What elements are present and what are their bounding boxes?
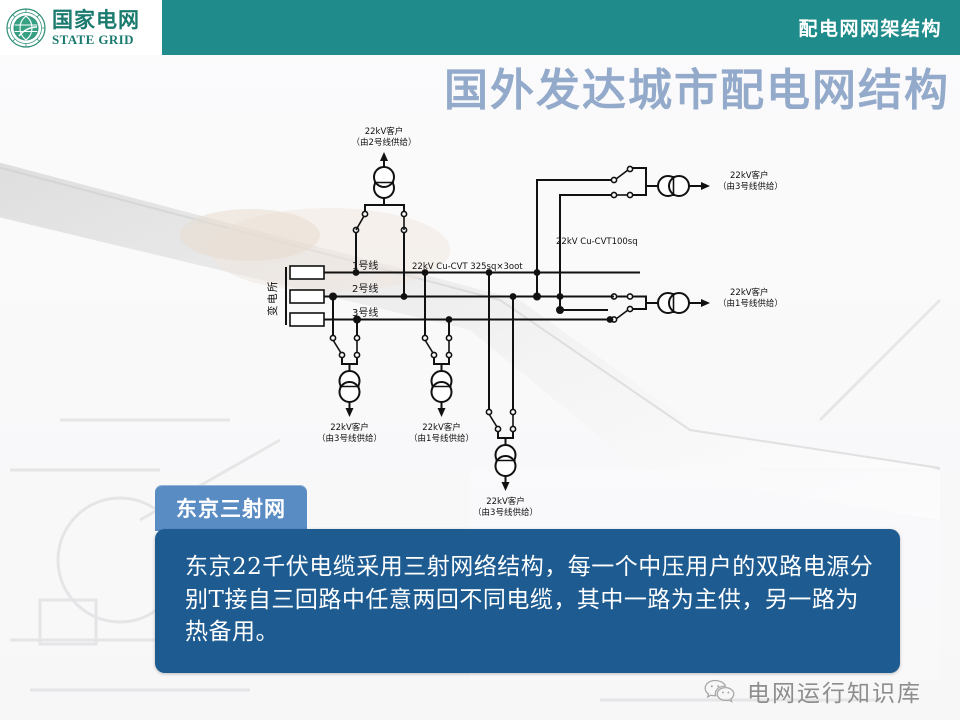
customer-branch-top bbox=[353, 152, 408, 300]
customer-top-label-a: 22kV客户 bbox=[365, 126, 404, 137]
customer-branch-bottom-mid bbox=[422, 269, 453, 417]
transformer-symbol bbox=[669, 293, 689, 313]
customer-bottom-left-label-b: （由3号线供给） bbox=[317, 433, 382, 444]
substation-label: 变电所 bbox=[266, 280, 279, 316]
state-grid-globe-emblem bbox=[6, 8, 46, 48]
customer-right-lower-label-b: （由1号线供给） bbox=[718, 298, 783, 309]
breaker-line1 bbox=[290, 266, 324, 279]
load-arrow bbox=[701, 299, 710, 307]
distribution-network-diagram: 变电所 1号线 2号线 3号线 22kV Cu-CVT 325sq×3oot 2… bbox=[0, 120, 960, 520]
customer-branch-bottom-right bbox=[486, 269, 517, 491]
transformer-symbol bbox=[432, 382, 452, 402]
customer-bottom-left-label-a: 22kV客户 bbox=[330, 422, 369, 433]
tap-node bbox=[556, 306, 564, 314]
load-arrow bbox=[438, 408, 446, 417]
callout-tab-label: 东京三射网 bbox=[155, 485, 307, 531]
brand-logo-text: 国家电网 STATE GRID bbox=[52, 10, 140, 46]
tap-node bbox=[510, 293, 517, 300]
brand-logo: 国家电网 STATE GRID bbox=[0, 0, 162, 55]
tap-node bbox=[422, 269, 429, 276]
transformer-symbol bbox=[374, 167, 394, 187]
customer-branch-right-upper bbox=[534, 166, 710, 300]
transformer-symbol bbox=[340, 382, 360, 402]
cable-annotation-tap: 22kV Cu-CVT100sq bbox=[556, 237, 638, 247]
customer-bottom-mid-label-a: 22kV客户 bbox=[422, 422, 461, 433]
tap-node bbox=[353, 269, 360, 276]
header-section-title: 配电网网架结构 bbox=[798, 14, 942, 41]
callout-body-text: 东京22千伏电缆采用三射网络结构，每一个中压用户的双路电源分别T接自三回路中任意… bbox=[155, 529, 900, 673]
load-arrow bbox=[346, 408, 354, 417]
feeder-label-2: 2号线 bbox=[352, 282, 378, 295]
tap-node bbox=[607, 316, 614, 323]
transformer-symbol bbox=[496, 456, 516, 476]
customer-right-upper-label-b: （由3号线供给） bbox=[718, 181, 783, 192]
breaker-line2 bbox=[290, 290, 324, 303]
tap-node bbox=[446, 316, 453, 323]
customer-right-upper-label-a: 22kV客户 bbox=[730, 170, 769, 181]
breaker-line3 bbox=[290, 313, 324, 326]
customer-top-label-b: （由2号线供给） bbox=[352, 137, 417, 148]
tap-node bbox=[401, 293, 408, 300]
tap-node bbox=[353, 316, 361, 324]
page-title: 国外发达城市配电网结构 bbox=[444, 54, 950, 118]
page-footer: 电网运行知识库 bbox=[0, 662, 960, 720]
header-bar: 配电网网架结构 bbox=[162, 0, 960, 55]
transformer-symbol bbox=[669, 176, 689, 196]
cable-annotation-main: 22kV Cu-CVT 325sq×3oot bbox=[412, 262, 523, 272]
callout-panel: 东京三射网 东京22千伏电缆采用三射网络结构，每一个中压用户的双路电源分别T接自… bbox=[155, 485, 900, 673]
brand-name-en: STATE GRID bbox=[52, 33, 140, 46]
page-header: 国家电网 STATE GRID 配电网网架结构 bbox=[0, 0, 960, 55]
customer-right-lower-label-a: 22kV客户 bbox=[730, 287, 769, 298]
tap-node bbox=[486, 269, 493, 276]
footer-label: 电网运行知识库 bbox=[747, 674, 922, 708]
load-arrow bbox=[701, 182, 710, 190]
customer-bottom-mid-label-b: （由1号线供给） bbox=[409, 433, 474, 444]
brand-name-cn: 国家电网 bbox=[52, 10, 140, 31]
load-arrow bbox=[380, 152, 388, 161]
tap-node bbox=[533, 293, 541, 301]
tap-node bbox=[329, 293, 337, 301]
wechat-icon bbox=[703, 678, 737, 704]
